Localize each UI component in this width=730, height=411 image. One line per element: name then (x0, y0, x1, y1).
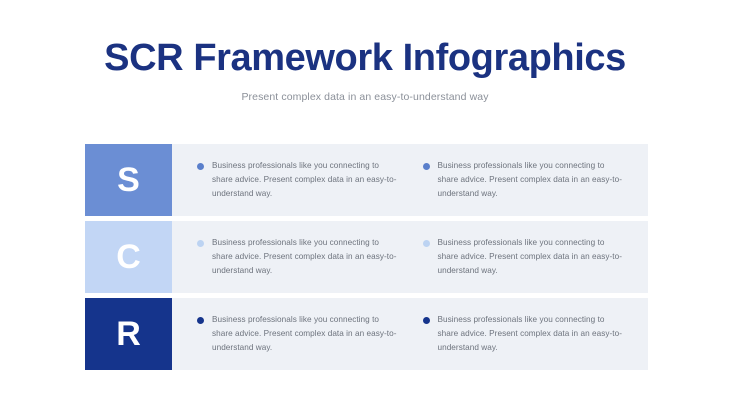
framework-row-s[interactable]: S Business professionals like you connec… (85, 144, 648, 216)
row-c-column-2-text: Business professionals like you connecti… (438, 236, 628, 278)
framework-row-r[interactable]: R Business professionals like you connec… (85, 298, 648, 370)
infographic-slide: SCR Framework Infographics Present compl… (0, 0, 730, 411)
letter-box-c: C (85, 221, 172, 293)
row-s-column-2-text: Business professionals like you connecti… (438, 159, 628, 201)
row-r-column-1: Business professionals like you connecti… (197, 313, 423, 355)
letter-box-s: S (85, 144, 172, 216)
bullet-icon (197, 163, 204, 170)
letter-box-r: R (85, 298, 172, 370)
row-r-column-2: Business professionals like you connecti… (423, 313, 649, 355)
row-columns-s: Business professionals like you connecti… (172, 144, 648, 216)
row-r-column-1-text: Business professionals like you connecti… (212, 313, 402, 355)
row-c-column-1: Business professionals like you connecti… (197, 236, 423, 278)
framework-rows: S Business professionals like you connec… (85, 144, 648, 370)
framework-row-c[interactable]: C Business professionals like you connec… (85, 221, 648, 293)
bullet-icon (423, 317, 430, 324)
row-c-column-1-text: Business professionals like you connecti… (212, 236, 402, 278)
row-s-column-1-text: Business professionals like you connecti… (212, 159, 402, 201)
header: SCR Framework Infographics Present compl… (0, 36, 730, 104)
letter-label-r: R (116, 317, 141, 351)
letter-label-c: C (116, 240, 141, 274)
row-s-column-2: Business professionals like you connecti… (423, 159, 649, 201)
row-columns-c: Business professionals like you connecti… (172, 221, 648, 293)
letter-label-s: S (117, 163, 140, 197)
bullet-icon (423, 163, 430, 170)
page-title: SCR Framework Infographics (0, 36, 730, 80)
row-columns-r: Business professionals like you connecti… (172, 298, 648, 370)
row-s-column-1: Business professionals like you connecti… (197, 159, 423, 201)
bullet-icon (197, 240, 204, 247)
bullet-icon (423, 240, 430, 247)
row-c-column-2: Business professionals like you connecti… (423, 236, 649, 278)
page-subtitle: Present complex data in an easy-to-under… (0, 90, 730, 104)
bullet-icon (197, 317, 204, 324)
row-r-column-2-text: Business professionals like you connecti… (438, 313, 628, 355)
